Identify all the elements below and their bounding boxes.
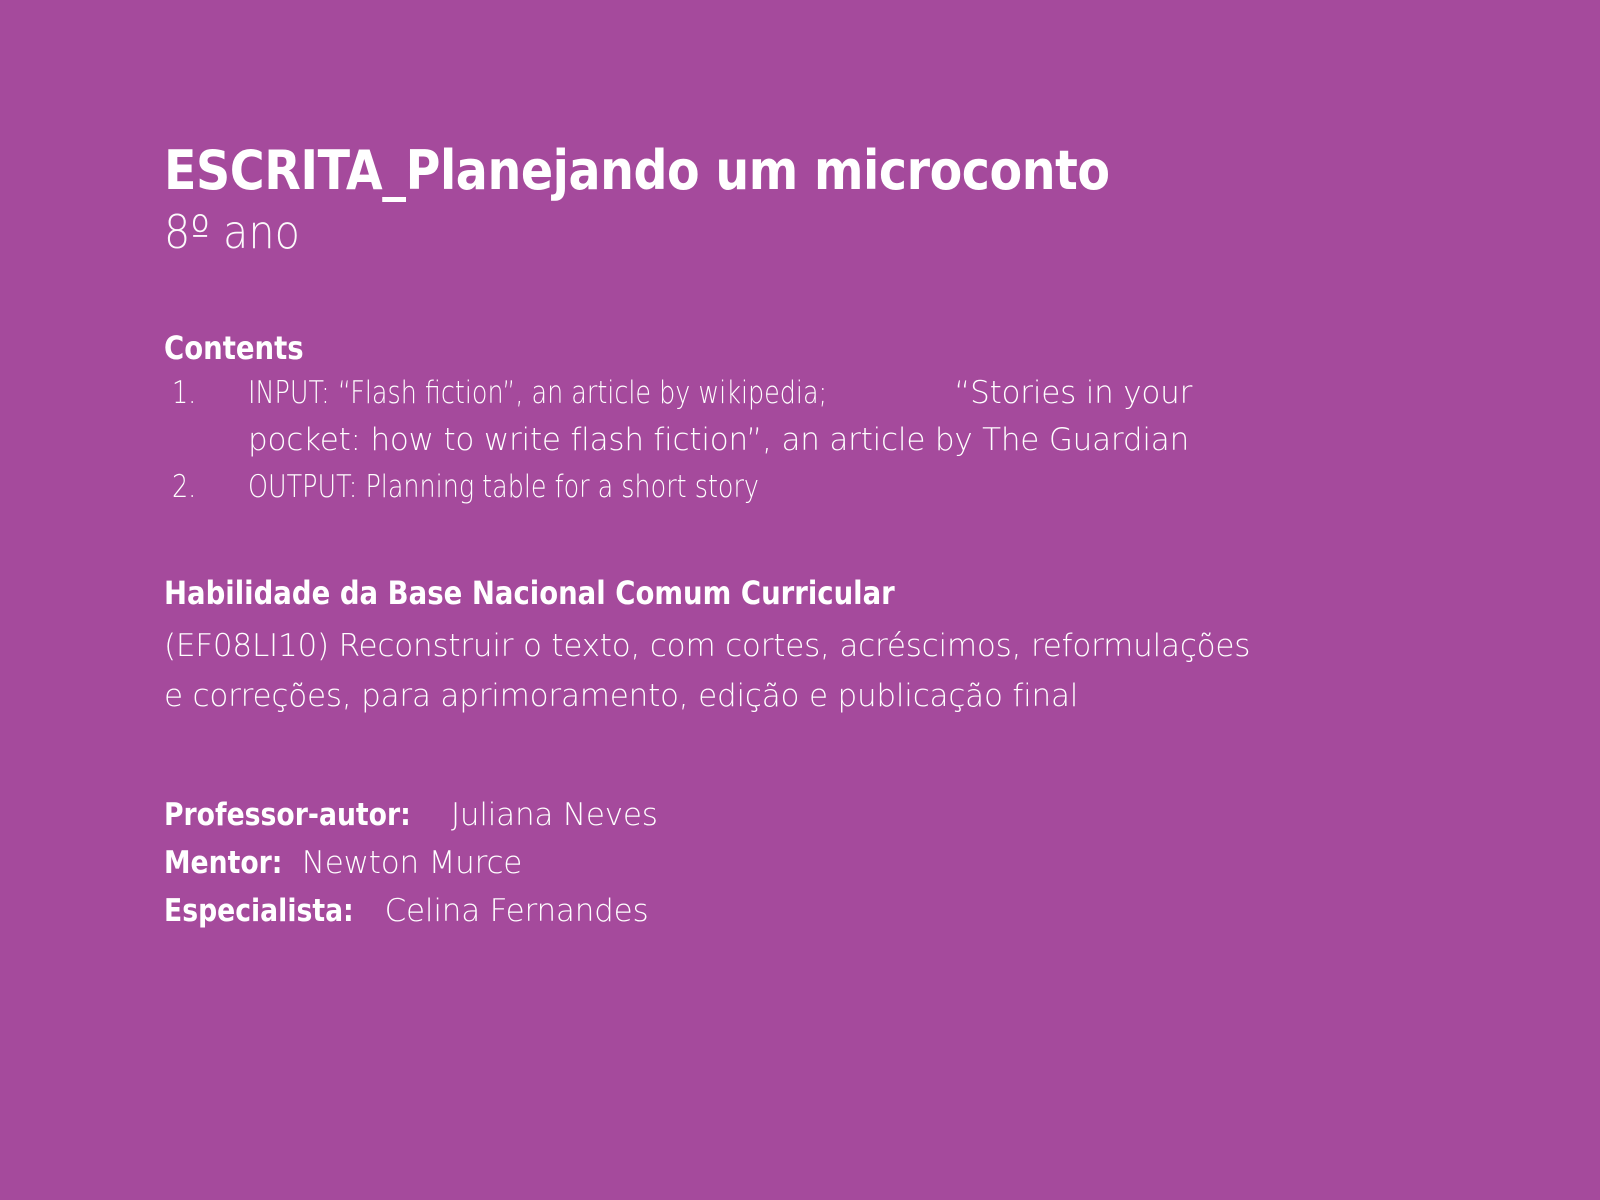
grade-subtitle: 8º ano — [164, 204, 1298, 260]
page-title: ESCRITA_Planejando um microconto — [164, 140, 1273, 202]
contents-heading: Contents — [164, 328, 1248, 368]
slide-canvas: ESCRITA_Planejando um microconto 8º ano … — [0, 0, 1600, 1200]
list-item-text-condensed: INPUT: “Flash fiction”, an article by wi… — [248, 370, 827, 417]
list-item-number: 2. — [172, 464, 205, 511]
contents-section: Contents 1.INPUT: “Flash fiction”, an ar… — [164, 328, 1424, 511]
credit-row-mentor: Mentor:Newton Murce — [164, 839, 1424, 887]
credit-label: Especialista: — [164, 887, 354, 935]
credit-label: Professor-autor: — [164, 791, 411, 839]
bncc-heading: Habilidade da Base Nacional Comum Curric… — [164, 573, 1248, 613]
bncc-section: Habilidade da Base Nacional Comum Curric… — [164, 573, 1424, 721]
credits-section: Professor-autor:Juliana Neves Mentor:New… — [164, 791, 1424, 935]
list-item: 1.INPUT: “Flash fiction”, an article by … — [164, 370, 1424, 464]
list-item-number: 1. — [172, 370, 205, 417]
credit-value: Celina Fernandes — [385, 893, 649, 929]
bncc-description: (EF08LI10) Reconstruir o texto, com cort… — [164, 621, 1274, 721]
slide-content: ESCRITA_Planejando um microconto 8º ano … — [164, 140, 1424, 935]
credit-value: Newton Murce — [302, 845, 522, 881]
credit-row-author: Professor-autor:Juliana Neves — [164, 791, 1424, 839]
credit-label: Mentor: — [164, 839, 282, 887]
credit-row-specialist: Especialista:Celina Fernandes — [164, 887, 1424, 935]
list-item-text-wide: “Stories in your — [954, 375, 1192, 411]
list-item: 2.OUTPUT: Planning table for a short sto… — [164, 464, 1424, 511]
contents-list: 1.INPUT: “Flash fiction”, an article by … — [164, 370, 1424, 511]
credit-value: Juliana Neves — [451, 797, 658, 833]
list-item-text-condensed: OUTPUT: Planning table for a short story — [248, 464, 759, 511]
list-item-text-wide-continued: pocket: how to write flash fiction”, an … — [248, 417, 1424, 464]
